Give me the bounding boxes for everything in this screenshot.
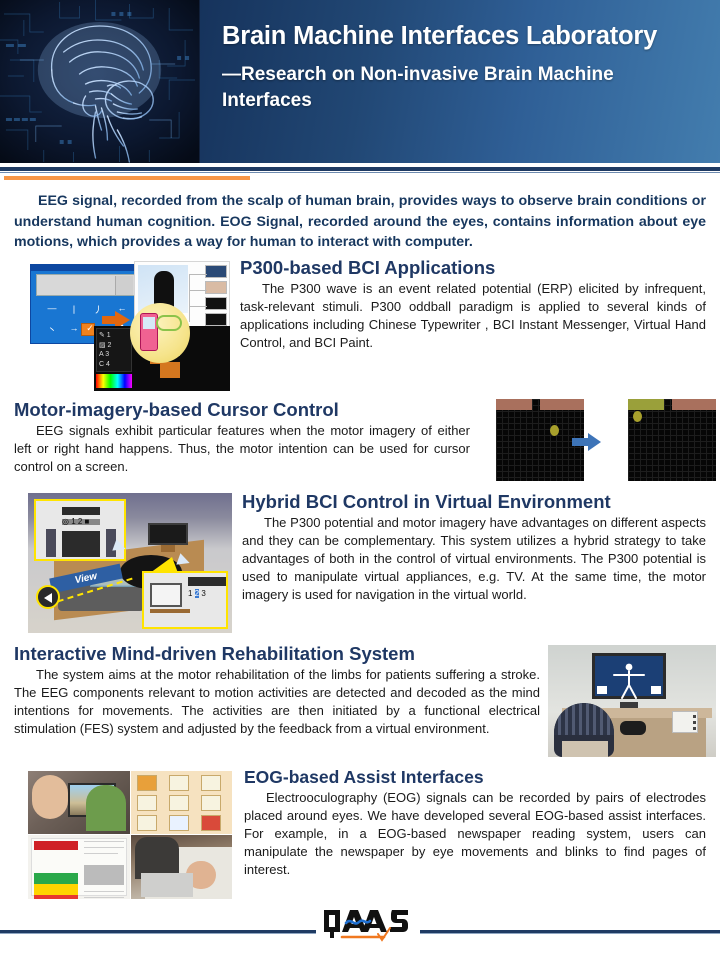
blue-arrow-icon — [588, 433, 601, 451]
header-title-block: Brain Machine Interfaces Laboratory —Res… — [200, 0, 720, 163]
section-p300-text: The P300 wave is an event related potent… — [240, 280, 706, 352]
cursor-screen-after — [628, 399, 716, 481]
rehab-subject-shoulders — [562, 741, 608, 757]
poster-footer — [0, 916, 720, 960]
section-hybrid: ◎ 1 2 ■ 1 2 3 View Hybrid BCI Control in… — [0, 491, 720, 633]
cursor-screen-before — [496, 399, 584, 481]
page-subtitle: —Research on Non-invasive Brain Machine … — [222, 62, 652, 113]
section-rehab-title: Interactive Mind-driven Rehabilitation S… — [14, 643, 540, 664]
brain-circuit-image — [0, 0, 200, 163]
eog-photo-subject — [28, 771, 130, 835]
p300-applications-figure: — 丨 丿 ← 丶 → ✓ ✿ ✎ 1 ▨ 2 A 3 — [30, 261, 230, 391]
eog-applications-figure — [28, 771, 232, 899]
section-p300: — 丨 丿 ← 丶 → ✓ ✿ ✎ 1 ▨ 2 A 3 — [0, 257, 720, 391]
eog-photo-newspaper — [28, 835, 130, 899]
virtual-hand-control-icon — [130, 303, 190, 363]
section-cursor-text: EEG signals exhibit particular features … — [14, 422, 470, 476]
section-eog: EOG-based Assist Interfaces Electrooculo… — [0, 767, 720, 899]
vr-view-cursor-icon — [36, 585, 60, 609]
section-hybrid-title: Hybrid BCI Control in Virtual Environmen… — [242, 491, 706, 512]
rehab-monitor — [592, 653, 666, 699]
section-rehab: Interactive Mind-driven Rehabilitation S… — [0, 643, 720, 761]
section-cursor: Motor-imagery-based Cursor Control EEG s… — [0, 399, 720, 487]
page-title: Brain Machine Interfaces Laboratory — [222, 22, 704, 50]
section-eog-text: Electrooculography (EOG) signals can be … — [244, 789, 706, 879]
poster-header: Brain Machine Interfaces Laboratory —Res… — [0, 0, 720, 163]
qaas-logo — [316, 904, 420, 948]
section-hybrid-text: The P300 potential and motor imagery hav… — [242, 514, 706, 604]
divider-navy-line — [0, 167, 720, 171]
eog-photo-icon-grid — [131, 771, 233, 835]
rehab-fes-box — [672, 711, 698, 733]
divider-navy-hairline — [0, 172, 720, 173]
section-eog-title: EOG-based Assist Interfaces — [244, 767, 706, 787]
header-divider — [0, 163, 720, 185]
vr-inset-stereo: ◎ 1 2 ■ — [34, 499, 126, 561]
section-p300-title: P300-based BCI Applications — [240, 257, 706, 278]
vr-inset-tv-panel: 1 2 3 — [142, 571, 228, 629]
divider-orange-line — [4, 176, 250, 180]
rehab-hand-glove — [620, 721, 646, 735]
intro-paragraph: EEG signal, recorded from the scalp of h… — [14, 191, 706, 253]
virtual-environment-figure: ◎ 1 2 ■ 1 2 3 View — [28, 493, 232, 633]
eog-photo-bedside — [131, 835, 233, 899]
section-rehab-text: The system aims at the motor rehabilitat… — [14, 666, 540, 738]
rehabilitation-figure — [548, 645, 716, 757]
vr-tv — [148, 523, 188, 553]
section-cursor-title: Motor-imagery-based Cursor Control — [14, 399, 470, 420]
cursor-control-figure — [496, 399, 716, 481]
